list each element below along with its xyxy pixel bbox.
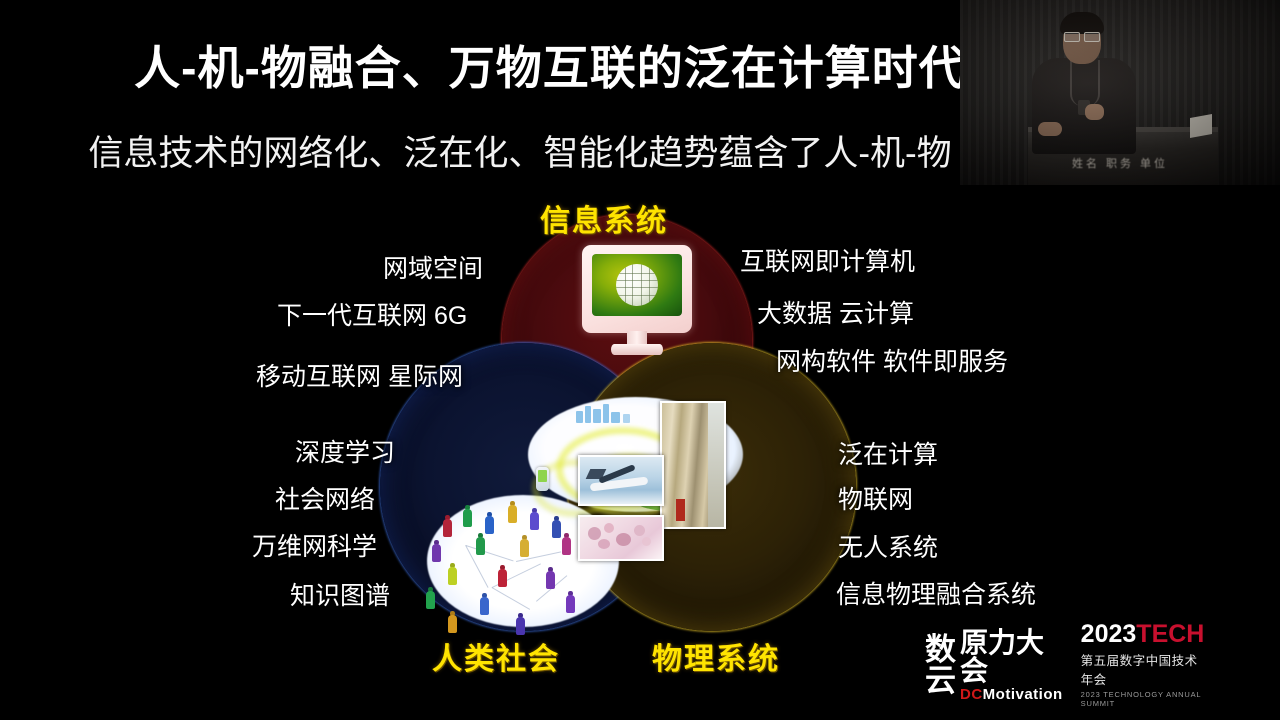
city-chip [576, 411, 583, 423]
logo-event-head: 2023TECH [1081, 622, 1205, 647]
keyword-bottom-right-3: 无人系统 [838, 528, 938, 564]
logo-event-en-head: TECH [1136, 620, 1204, 648]
person-figure [508, 501, 517, 523]
city-chip [585, 406, 591, 423]
venn-label-information-system: 信息系统 [540, 196, 668, 240]
person-figure [426, 587, 435, 609]
logo-event-cn: 第五届数字中国技术年会 [1081, 650, 1205, 688]
keyword-top-right-3: 网构软件 软件即服务 [776, 342, 1008, 378]
keyword-top-right-1: 互联网即计算机 [740, 242, 915, 278]
logo-brand-en-accent: DC [960, 686, 983, 703]
logo-brand-cn: 数云 [925, 634, 956, 696]
airplane-photo [578, 455, 664, 506]
keyword-bottom-left-4: 知识图谱 [290, 576, 390, 612]
city-chip [611, 412, 620, 423]
speaker-video-overlay[interactable]: 姓名 职务 单位 [960, 0, 1280, 185]
logo-brand-en-rest: Motivation [983, 686, 1063, 703]
person-figure [432, 540, 441, 562]
logo-brand-sub-cn: 原力大会 [960, 629, 1063, 685]
person-figure [448, 563, 457, 585]
keyword-bottom-right-2: 物联网 [838, 480, 913, 516]
keyword-top-left-1: 网域空间 [383, 249, 483, 285]
microscopy-photo [578, 515, 664, 561]
person-figure [485, 512, 494, 534]
page-subtitle: 信息技术的网络化、泛在化、智能化趋势蕴含了人-机-物 [0, 125, 1040, 176]
skyscraper-photo [660, 401, 726, 529]
person-figure [552, 516, 561, 538]
keyword-bottom-left-1: 深度学习 [295, 433, 395, 469]
person-figure [516, 613, 525, 635]
conference-logo: 数云 原力大会 DCMotivation 2023TECH 第五届数字中国技术年… [925, 634, 1200, 696]
keyword-top-right-2: 大数据 云计算 [757, 294, 914, 330]
person-figure [443, 515, 452, 537]
keyword-bottom-left-2: 社会网络 [275, 480, 375, 516]
keyword-bottom-right-1: 泛在计算 [838, 435, 938, 471]
person-figure [480, 593, 489, 615]
person-figure [566, 591, 575, 613]
slide-stage: 人-机-物融合、万物互联的泛在计算时代 信息技术的网络化、泛在化、智能化趋势蕴含… [0, 0, 1280, 720]
person-figure [546, 567, 555, 589]
keyword-bottom-right-4: 信息物理融合系统 [836, 575, 1036, 611]
globe-icon [616, 264, 658, 306]
page-title: 人-机-物融合、万物互联的泛在计算时代 [0, 32, 1100, 98]
person-figure [562, 533, 571, 555]
city-chip [603, 404, 609, 423]
person-figure [498, 565, 507, 587]
logo-event-year: 2023 [1081, 620, 1137, 648]
logo-brand-en: DCMotivation [960, 687, 1063, 702]
speaker-caption: 姓名 职务 单位 [960, 155, 1280, 171]
venn-label-human-society: 人类社会 [432, 634, 560, 678]
logo-event-en-sub: 2023 TECHNOLOGY ANNUAL SUMMIT [1081, 690, 1205, 708]
keyword-bottom-left-3: 万维网科学 [252, 527, 377, 563]
person-figure [476, 533, 485, 555]
mobile-phone-icon [536, 467, 549, 491]
city-chip [593, 409, 601, 423]
venn-label-physical-system: 物理系统 [652, 634, 780, 678]
person-figure [448, 611, 457, 633]
city-chip [623, 414, 630, 423]
desktop-monitor-icon [582, 245, 692, 361]
person-figure [463, 505, 472, 527]
person-figure [520, 535, 529, 557]
person-figure [530, 508, 539, 530]
keyword-top-left-3: 移动互联网 星际网 [256, 357, 463, 393]
keyword-top-left-2: 下一代互联网 6G [277, 296, 467, 332]
